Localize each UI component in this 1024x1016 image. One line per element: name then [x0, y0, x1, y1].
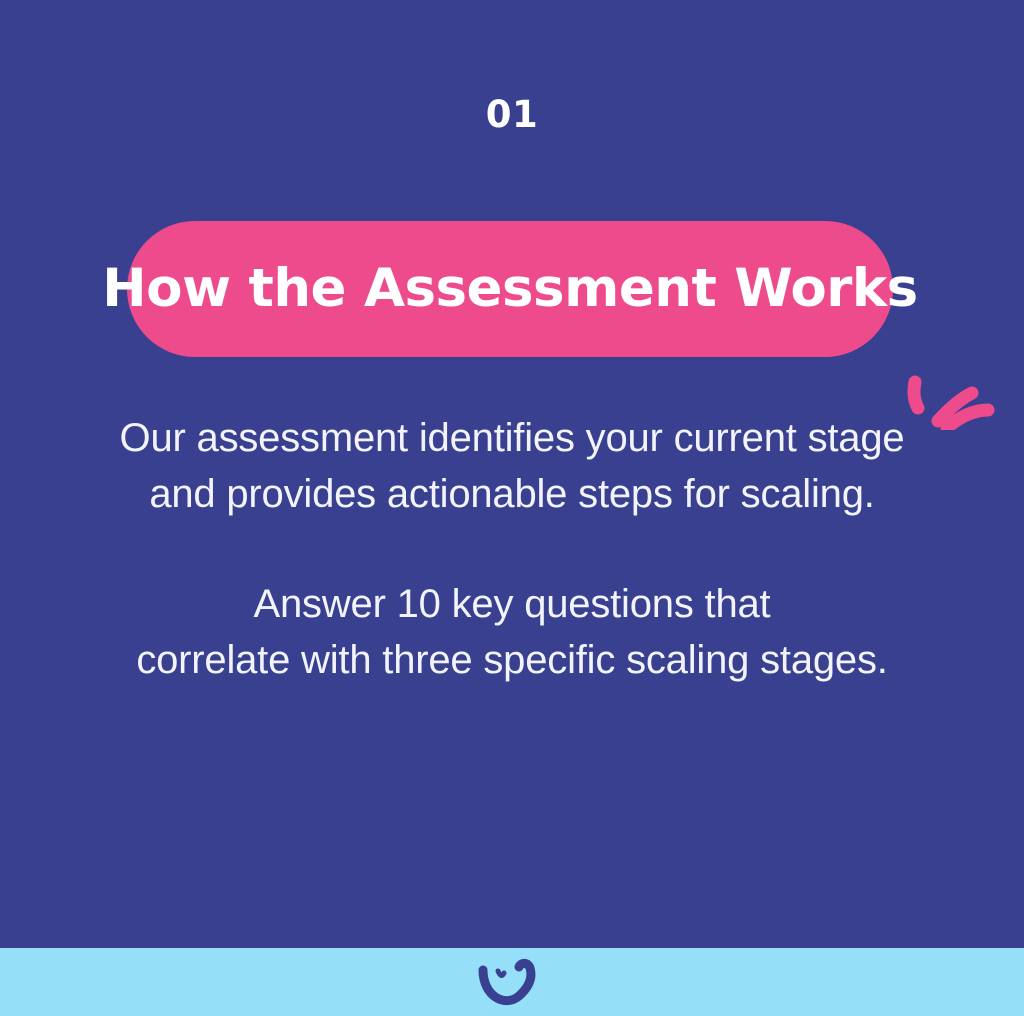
body-line: Our assessment identifies your current s…: [0, 410, 1024, 466]
body-line: Answer 10 key questions that: [0, 576, 1024, 632]
assessment-description: Our assessment identifies your current s…: [0, 410, 1024, 522]
step-number: 01: [0, 93, 1024, 137]
title-pill: How the Assessment Works: [127, 221, 893, 357]
body-line: and provides actionable steps for scalin…: [0, 466, 1024, 522]
slide-canvas: 01 How the Assessment Works Our assessme…: [0, 0, 1024, 1016]
smiley-logo-icon: [477, 954, 545, 1012]
body-line: correlate with three specific scaling st…: [0, 632, 1024, 688]
page-title: How the Assessment Works: [102, 260, 917, 318]
questions-description: Answer 10 key questions that correlate w…: [0, 576, 1024, 688]
